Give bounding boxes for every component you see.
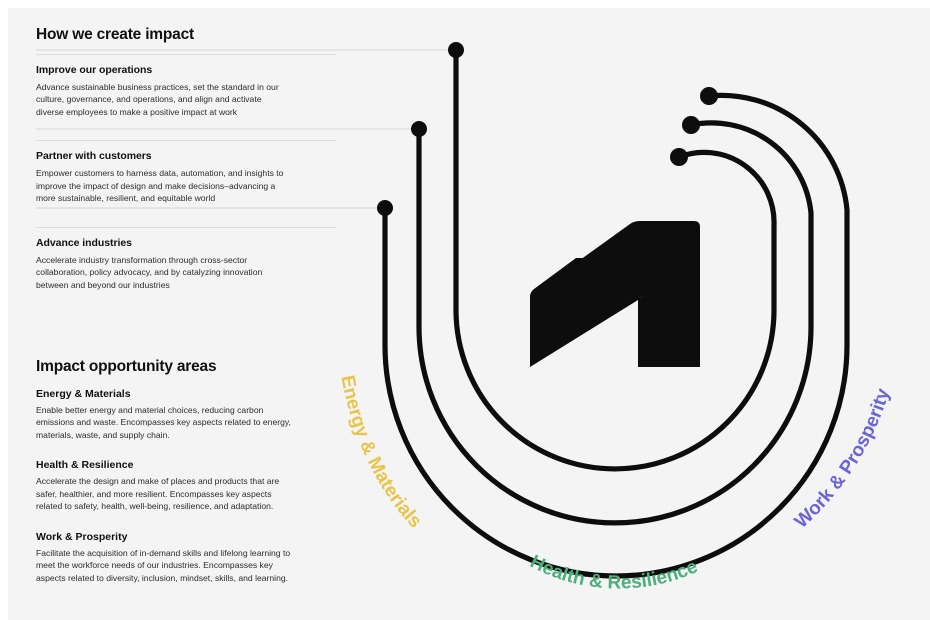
opportunity-area-body: Enable better energy and material choice… [36, 404, 291, 441]
spacer [36, 118, 336, 140]
opportunity-area-title: Energy & Materials [36, 388, 336, 400]
arc-middle [419, 123, 811, 523]
autodesk-logo [530, 221, 700, 367]
impact-entry-title: Improve our operations [36, 64, 336, 76]
dot-arc-outer-end [700, 87, 718, 105]
curve-label-health-resilience: Health & Resilience [527, 551, 701, 593]
dot-arc-middle-end [682, 116, 700, 134]
spacer [36, 205, 336, 227]
dot-arc-inner-end [670, 148, 688, 166]
opportunity-area-title: Health & Resilience [36, 459, 336, 471]
opportunity-area-title: Work & Prosperity [36, 531, 336, 543]
impact-entry-partner-customers: Partner with customers Empower customers… [36, 141, 336, 204]
impact-entry-improve-operations: Improve our operations Advance sustainab… [36, 55, 336, 118]
opportunity-areas-title: Impact opportunity areas [36, 358, 336, 376]
dot-improve-operations [448, 42, 464, 58]
opportunity-area-energy-materials: Energy & Materials Enable better energy … [36, 388, 336, 441]
opportunity-area-work-prosperity: Work & Prosperity Facilitate the acquisi… [36, 531, 336, 584]
page-title: How we create impact [36, 26, 336, 44]
dot-advance-industries [377, 200, 393, 216]
opportunity-area-body: Accelerate the design and make of places… [36, 475, 291, 512]
opportunity-area-body: Facilitate the acquisition of in-demand … [36, 547, 291, 584]
curve-label-work-prosperity: Work & Prosperity [791, 386, 894, 533]
impact-entry-body: Advance sustainable business practices, … [36, 81, 290, 118]
impact-entry-title: Partner with customers [36, 150, 336, 162]
how-we-create-impact-section: How we create impact Improve our operati… [36, 26, 336, 291]
impact-opportunity-areas-section: Impact opportunity areas Energy & Materi… [36, 358, 336, 602]
infographic-page: Energy & Materials Health & Resilience W… [0, 0, 930, 620]
impact-entry-advance-industries: Advance industries Accelerate industry t… [36, 228, 336, 291]
impact-entry-body: Accelerate industry transformation throu… [36, 254, 290, 291]
opportunity-area-health-resilience: Health & Resilience Accelerate the desig… [36, 459, 336, 512]
impact-entry-body: Empower customers to harness data, autom… [36, 167, 290, 204]
impact-entry-title: Advance industries [36, 237, 336, 249]
dot-partner-customers [411, 121, 427, 137]
